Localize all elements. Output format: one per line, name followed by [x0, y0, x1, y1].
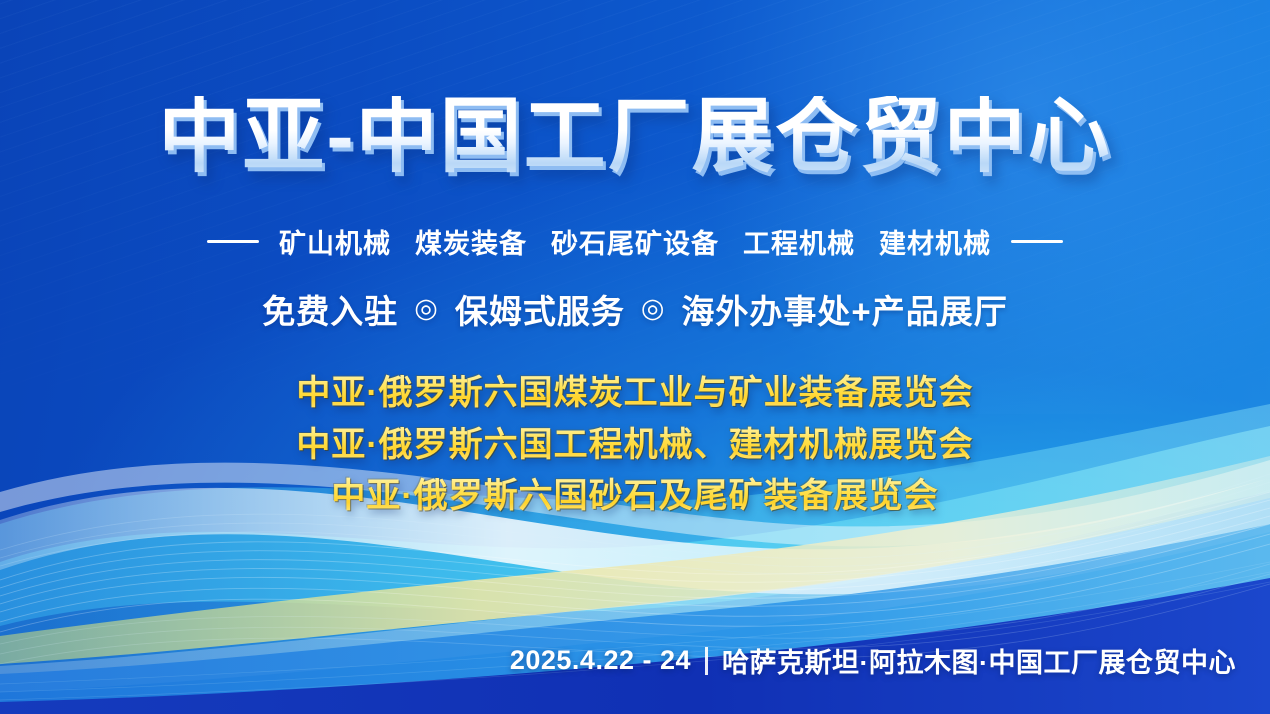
exhibition-list: 中亚·俄罗斯六国煤炭工业与矿业装备展览会 中亚·俄罗斯六国工程机械、建材机械展览…: [0, 372, 1270, 519]
bullseye-separator-icon-2: ◎: [641, 293, 666, 324]
banner-content: 中亚-中国工厂展仓贸中心 矿山机械 煤炭装备 砂石尾矿设备 工程机械 建材机械 …: [0, 0, 1270, 714]
category-item-coal-equipment: 煤炭装备: [415, 222, 527, 261]
exhibition-line-aggregate-tailings: 中亚·俄罗斯六国砂石及尾矿装备展览会: [331, 475, 938, 519]
promotional-banner: 中亚-中国工厂展仓贸中心 矿山机械 煤炭装备 砂石尾矿设备 工程机械 建材机械 …: [0, 0, 1270, 714]
page-title: 中亚-中国工厂展仓贸中心: [0, 96, 1270, 178]
category-item-building-material-machinery: 建材机械: [879, 222, 991, 261]
dash-right-icon: [1011, 240, 1063, 243]
dash-left-icon: [207, 240, 259, 243]
footer-divider: [705, 647, 708, 675]
category-list: 矿山机械 煤炭装备 砂石尾矿设备 工程机械 建材机械: [279, 222, 991, 261]
event-venue: 哈萨克斯坦·阿拉木图·中国工厂展仓贸中心: [722, 641, 1236, 680]
bullseye-separator-icon: ◎: [414, 293, 439, 324]
exhibition-line-construction-building: 中亚·俄罗斯六国工程机械、建材机械展览会: [296, 424, 973, 468]
category-strip: 矿山机械 煤炭装备 砂石尾矿设备 工程机械 建材机械: [0, 222, 1270, 261]
services-row: 免费入驻 ◎ 保姆式服务 ◎ 海外办事处+产品展厅: [0, 285, 1270, 333]
category-item-construction-machinery: 工程机械: [743, 222, 855, 261]
exhibition-line-coal-mining: 中亚·俄罗斯六国煤炭工业与矿业装备展览会: [296, 372, 973, 416]
footer-info: 2025.4.22 - 24 哈萨克斯坦·阿拉木图·中国工厂展仓贸中心: [510, 641, 1236, 680]
category-item-mining-machinery: 矿山机械: [279, 222, 391, 261]
service-item-free-entry: 免费入驻: [262, 285, 398, 333]
event-date: 2025.4.22 - 24: [510, 645, 691, 676]
service-item-overseas-office-showroom: 海外办事处+产品展厅: [681, 285, 1007, 333]
service-item-concierge-service: 保姆式服务: [455, 285, 625, 333]
category-item-aggregate-tailings-equipment: 砂石尾矿设备: [551, 222, 719, 261]
